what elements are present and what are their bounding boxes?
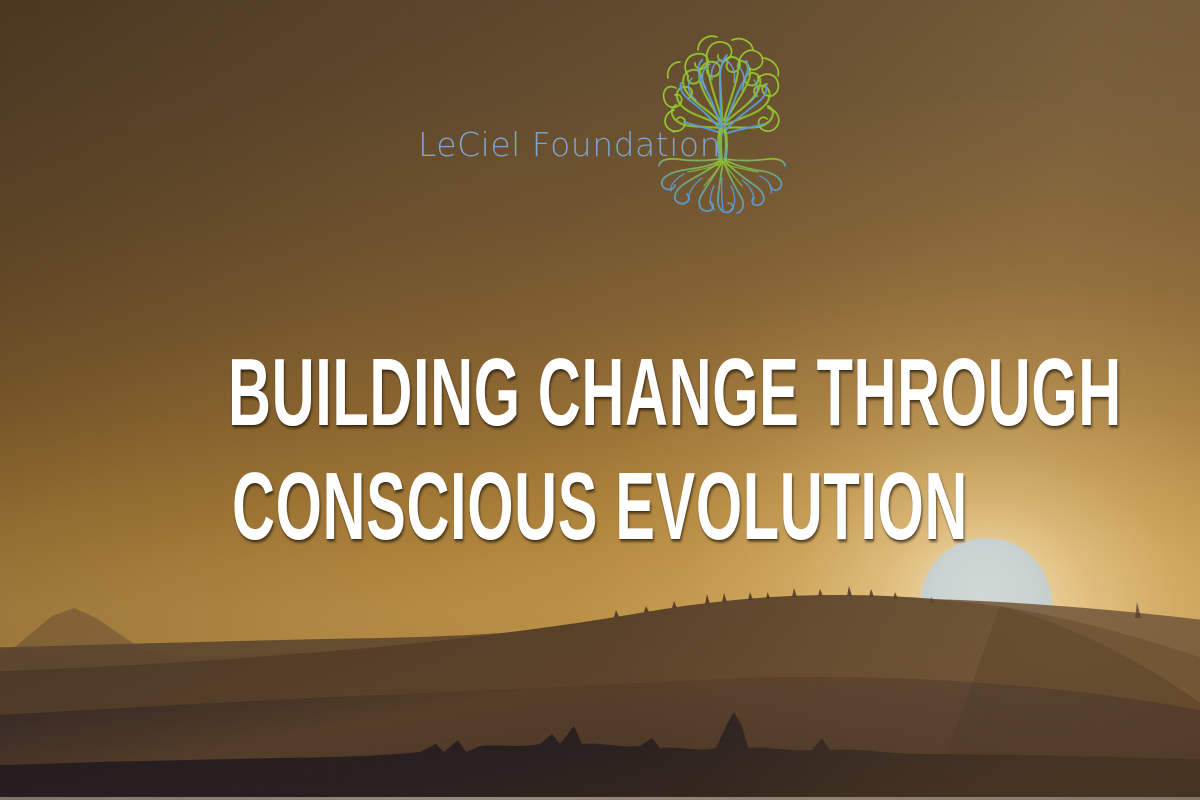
headline-line-1: Building Change Through [228,336,972,450]
brand-logo[interactable]: LeCiel Foundation [418,28,790,218]
brand-wordmark: LeCiel Foundation [418,128,686,161]
hero-banner: LeCiel Foundation [0,0,1200,800]
page-title: Building Change Through Conscious Evolut… [0,336,1200,564]
tree-logo-svg [654,28,790,218]
swirling-tree-with-roots-icon [654,28,790,218]
headline-line-2: Conscious Evolution [228,450,972,564]
